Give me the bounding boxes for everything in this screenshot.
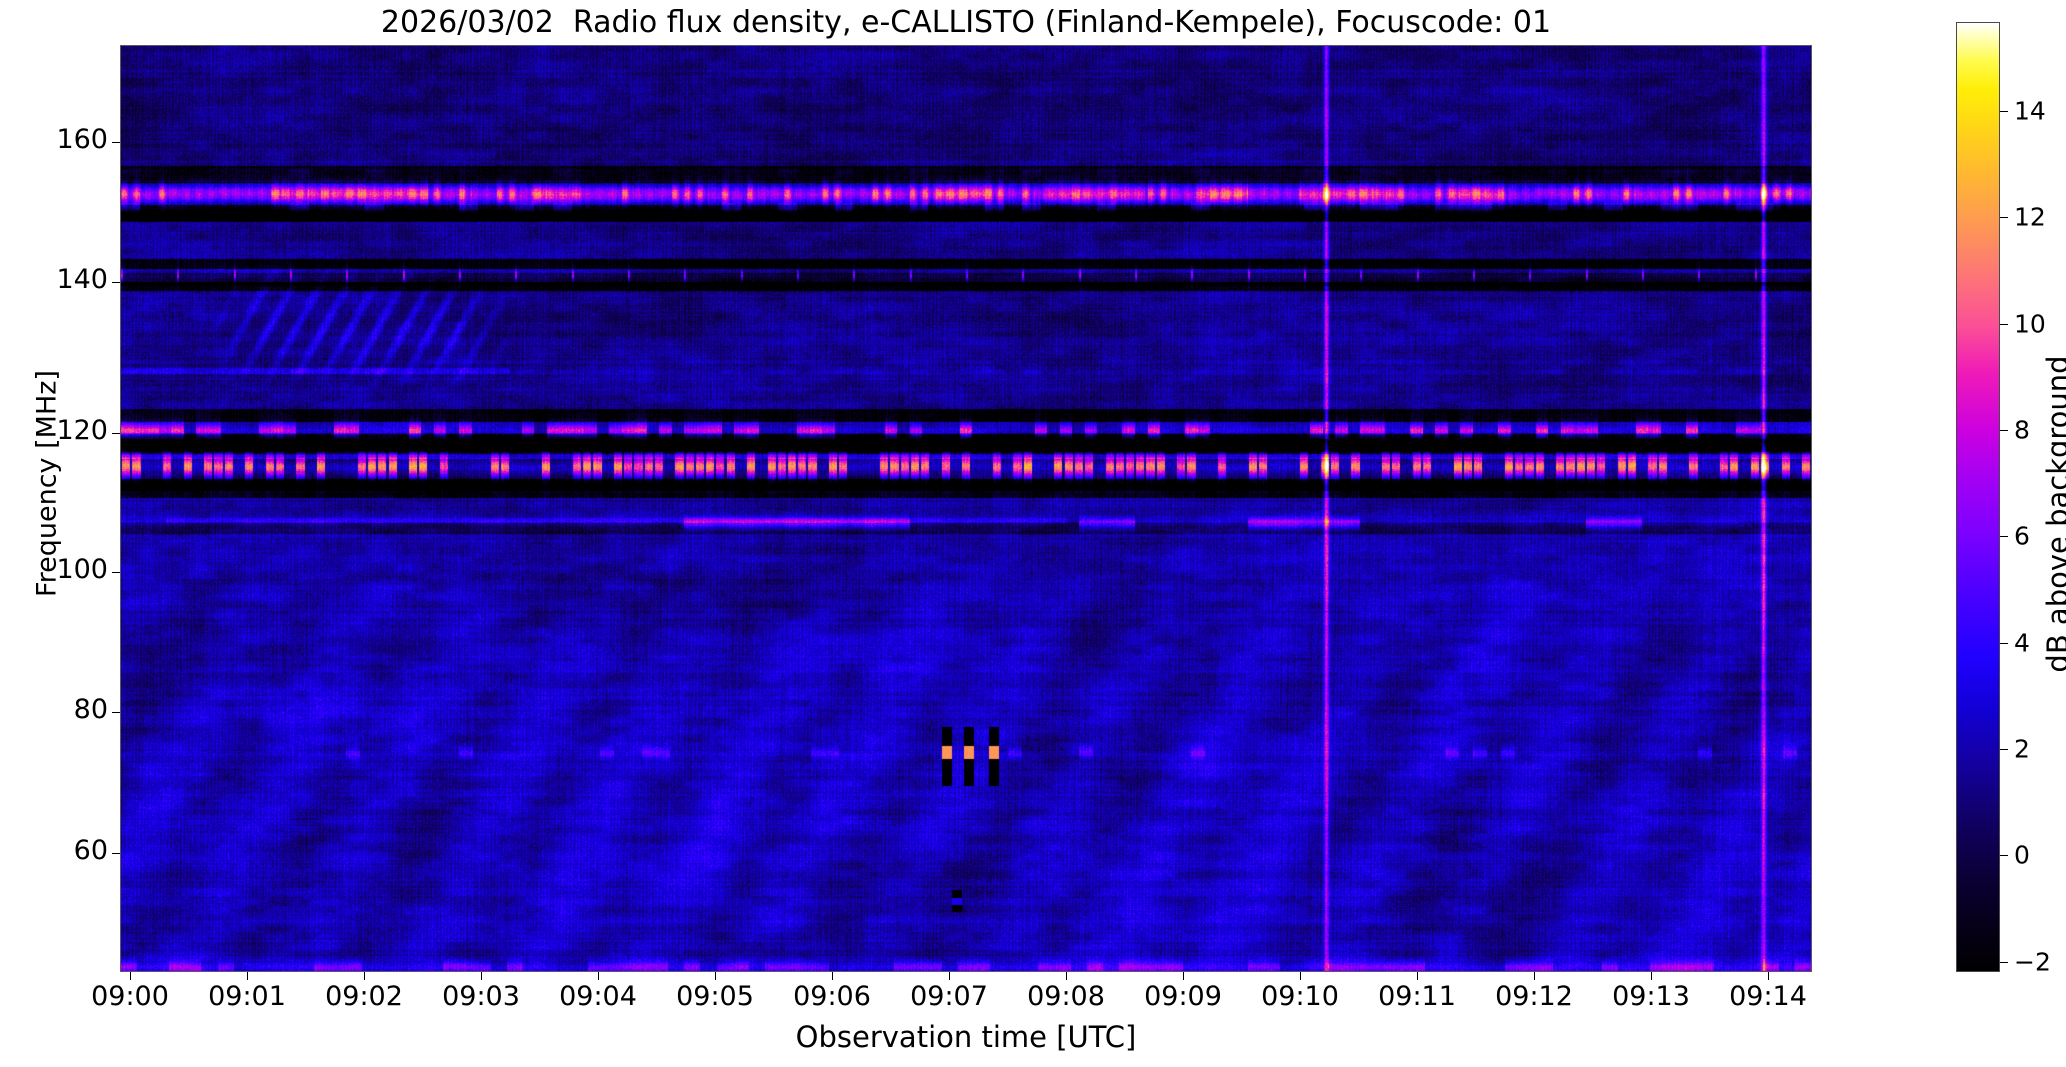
- colorbar-tick-mark: [2000, 536, 2008, 537]
- y-axis-tick-mark: [112, 572, 120, 573]
- x-axis-tick-label: 09:03: [442, 981, 520, 1012]
- x-axis-tick-mark: [1768, 972, 1769, 980]
- y-axis-tick-label: 160: [0, 124, 108, 155]
- colorbar-gradient: [1957, 23, 1999, 971]
- y-axis-label: Frequency [MHz]: [32, 84, 63, 884]
- colorbar-tick-label: 8: [2014, 416, 2030, 445]
- y-axis-tick-label: 80: [0, 694, 108, 725]
- y-axis-tick-label: 100: [0, 554, 108, 585]
- colorbar-label: dB above background: [2041, 154, 2066, 874]
- x-axis-tick-label: 09:14: [1729, 981, 1807, 1012]
- x-axis-tick-mark: [130, 972, 131, 980]
- colorbar-tick-mark: [2000, 111, 2008, 112]
- spectrogram-figure: 2026/03/02 Radio flux density, e-CALLIST…: [0, 0, 2066, 1067]
- x-axis-tick-label: 09:01: [208, 981, 286, 1012]
- y-axis-tick-mark: [112, 433, 120, 434]
- x-axis-tick-label: 09:06: [793, 981, 871, 1012]
- figure-title: 2026/03/02 Radio flux density, e-CALLIST…: [120, 4, 1812, 42]
- x-axis-tick-label: 09:05: [676, 981, 754, 1012]
- x-axis-tick-label: 09:00: [91, 981, 169, 1012]
- spectrogram-plot-area[interactable]: [120, 45, 1812, 972]
- colorbar-tick-label: −2: [2014, 948, 2051, 977]
- y-axis-tick-label: 60: [0, 835, 108, 866]
- x-axis-tick-mark: [364, 972, 365, 980]
- x-axis-tick-label: 09:12: [1495, 981, 1573, 1012]
- colorbar-tick-label: 4: [2014, 629, 2030, 658]
- x-axis-tick-mark: [1651, 972, 1652, 980]
- x-axis-tick-mark: [1300, 972, 1301, 980]
- colorbar-tick-mark: [2000, 749, 2008, 750]
- x-axis-tick-label: 09:11: [1378, 981, 1456, 1012]
- colorbar-tick-label: 0: [2014, 841, 2030, 870]
- x-axis-tick-label: 09:09: [1144, 981, 1222, 1012]
- x-axis-tick-label: 09:10: [1261, 981, 1339, 1012]
- y-axis-tick-mark: [112, 282, 120, 283]
- colorbar-tick-label: 2: [2014, 735, 2030, 764]
- x-axis-tick-label: 09:04: [559, 981, 637, 1012]
- x-axis-tick-mark: [1417, 972, 1418, 980]
- colorbar-tick-mark: [2000, 962, 2008, 963]
- x-axis-tick-mark: [949, 972, 950, 980]
- x-axis-tick-mark: [481, 972, 482, 980]
- x-axis-tick-label: 09:08: [1027, 981, 1105, 1012]
- y-axis-tick-mark: [112, 712, 120, 713]
- colorbar-tick-mark: [2000, 324, 2008, 325]
- x-axis-tick-mark: [832, 972, 833, 980]
- x-axis-tick-mark: [1066, 972, 1067, 980]
- colorbar[interactable]: [1956, 22, 2000, 972]
- x-axis-tick-mark: [247, 972, 248, 980]
- colorbar-tick-mark: [2000, 855, 2008, 856]
- colorbar-tick-mark: [2000, 217, 2008, 218]
- x-axis-tick-mark: [1183, 972, 1184, 980]
- x-axis-tick-mark: [1534, 972, 1535, 980]
- x-axis-tick-mark: [598, 972, 599, 980]
- x-axis-tick-label: 09:13: [1612, 981, 1690, 1012]
- colorbar-tick-label: 6: [2014, 522, 2030, 551]
- colorbar-tick-mark: [2000, 430, 2008, 431]
- y-axis-tick-label: 140: [0, 264, 108, 295]
- y-axis-tick-mark: [112, 142, 120, 143]
- colorbar-tick-label: 14: [2014, 97, 2046, 126]
- x-axis-label: Observation time [UTC]: [120, 1020, 1812, 1054]
- spectrogram-image: [121, 46, 1811, 971]
- colorbar-tick-mark: [2000, 643, 2008, 644]
- x-axis-tick-label: 09:07: [910, 981, 988, 1012]
- x-axis-tick-label: 09:02: [325, 981, 403, 1012]
- y-axis-tick-mark: [112, 853, 120, 854]
- y-axis-tick-label: 120: [0, 415, 108, 446]
- x-axis-tick-mark: [715, 972, 716, 980]
